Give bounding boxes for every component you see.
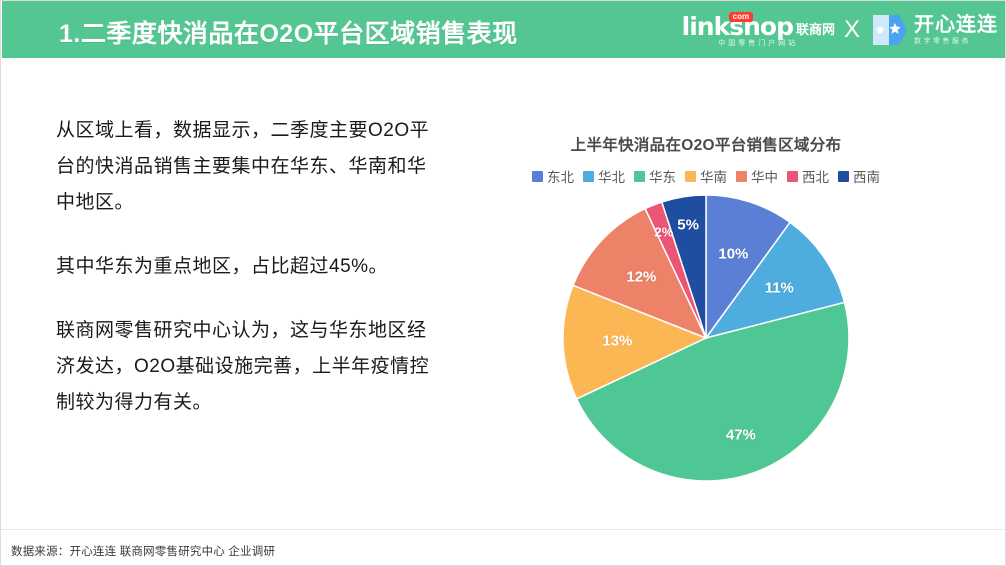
pie-chart-panel: 上半年快消品在O2O平台销售区域分布 东北华北华东华南华中西北西南 10%11%… bbox=[471, 121, 941, 521]
paragraph-2: 其中华东为重点地区，占比超过45%。 bbox=[56, 249, 431, 285]
legend-label: 华北 bbox=[598, 166, 625, 186]
linkshop-cn-name: 联商网 bbox=[796, 23, 835, 36]
legend-item[interactable]: 华东 bbox=[634, 166, 676, 186]
legend-swatch-icon bbox=[736, 171, 747, 182]
paragraph-3: 联商网零售研究中心认为，这与华东地区经济发达，O2O基础设施完善，上半年疫情控制… bbox=[56, 313, 431, 421]
legend-label: 西南 bbox=[853, 166, 880, 186]
logo-separator-x: X bbox=[844, 16, 860, 44]
legend-swatch-icon bbox=[685, 171, 696, 182]
pie-slice-label: 5% bbox=[677, 217, 699, 234]
logo-group: linkshop 联商网 com 中国零售门户网站 X 开心 bbox=[682, 6, 998, 54]
chart-legend: 东北华北华东华南华中西北西南 bbox=[471, 166, 941, 186]
linkshop-tagline: 中国零售门户网站 bbox=[718, 40, 798, 47]
kaixin-name: 开心连连 bbox=[914, 15, 998, 35]
legend-item[interactable]: 华北 bbox=[583, 166, 625, 186]
legend-swatch-icon bbox=[583, 171, 594, 182]
pie-slice-label: 12% bbox=[626, 269, 656, 286]
legend-label: 西北 bbox=[802, 166, 829, 186]
pie-chart: 10%11%47%13%12%2%5% bbox=[563, 195, 849, 481]
source-note: 数据来源：开心连连 联商网零售研究中心 企业调研 bbox=[11, 543, 275, 559]
legend-item[interactable]: 西北 bbox=[787, 166, 829, 186]
legend-label: 华东 bbox=[649, 166, 676, 186]
legend-swatch-icon bbox=[838, 171, 849, 182]
kaixin-tagline: 数字零售服务 bbox=[914, 38, 998, 45]
legend-swatch-icon bbox=[787, 171, 798, 182]
chart-title: 上半年快消品在O2O平台销售区域分布 bbox=[471, 133, 941, 155]
legend-swatch-icon bbox=[634, 171, 645, 182]
legend-label: 华南 bbox=[700, 166, 727, 186]
legend-item[interactable]: 东北 bbox=[532, 166, 574, 186]
pie-slice-label: 10% bbox=[718, 245, 748, 262]
legend-swatch-icon bbox=[532, 171, 543, 182]
pie-slice-label: 2% bbox=[654, 224, 673, 239]
body-text-block: 从区域上看，数据显示，二季度主要O2O平台的快消品销售主要集中在华东、华南和华中… bbox=[56, 113, 431, 421]
legend-label: 东北 bbox=[547, 166, 574, 186]
page-title: 1.二季度快消品在O2O平台区域销售表现 bbox=[59, 14, 518, 50]
pie-slice-label: 11% bbox=[765, 280, 794, 297]
pie-slice-label: 13% bbox=[602, 332, 632, 349]
pie-slice-label: 47% bbox=[726, 426, 756, 443]
legend-item[interactable]: 西南 bbox=[838, 166, 880, 186]
linkshop-com-badge: com bbox=[729, 12, 753, 22]
linkshop-logo: linkshop 联商网 com 中国零售门户网站 bbox=[682, 14, 835, 47]
legend-label: 华中 bbox=[751, 166, 778, 186]
slide-root: 1.二季度快消品在O2O平台区域销售表现 linkshop 联商网 com 中国… bbox=[0, 0, 1006, 566]
price-tag-icon bbox=[869, 11, 909, 49]
paragraph-1: 从区域上看，数据显示，二季度主要O2O平台的快消品销售主要集中在华东、华南和华中… bbox=[56, 113, 431, 221]
footer-divider bbox=[1, 529, 1005, 530]
header-bar: 1.二季度快消品在O2O平台区域销售表现 linkshop 联商网 com 中国… bbox=[2, 1, 1006, 58]
legend-item[interactable]: 华南 bbox=[685, 166, 727, 186]
legend-item[interactable]: 华中 bbox=[736, 166, 778, 186]
kaixin-logo: 开心连连 数字零售服务 bbox=[869, 11, 998, 49]
